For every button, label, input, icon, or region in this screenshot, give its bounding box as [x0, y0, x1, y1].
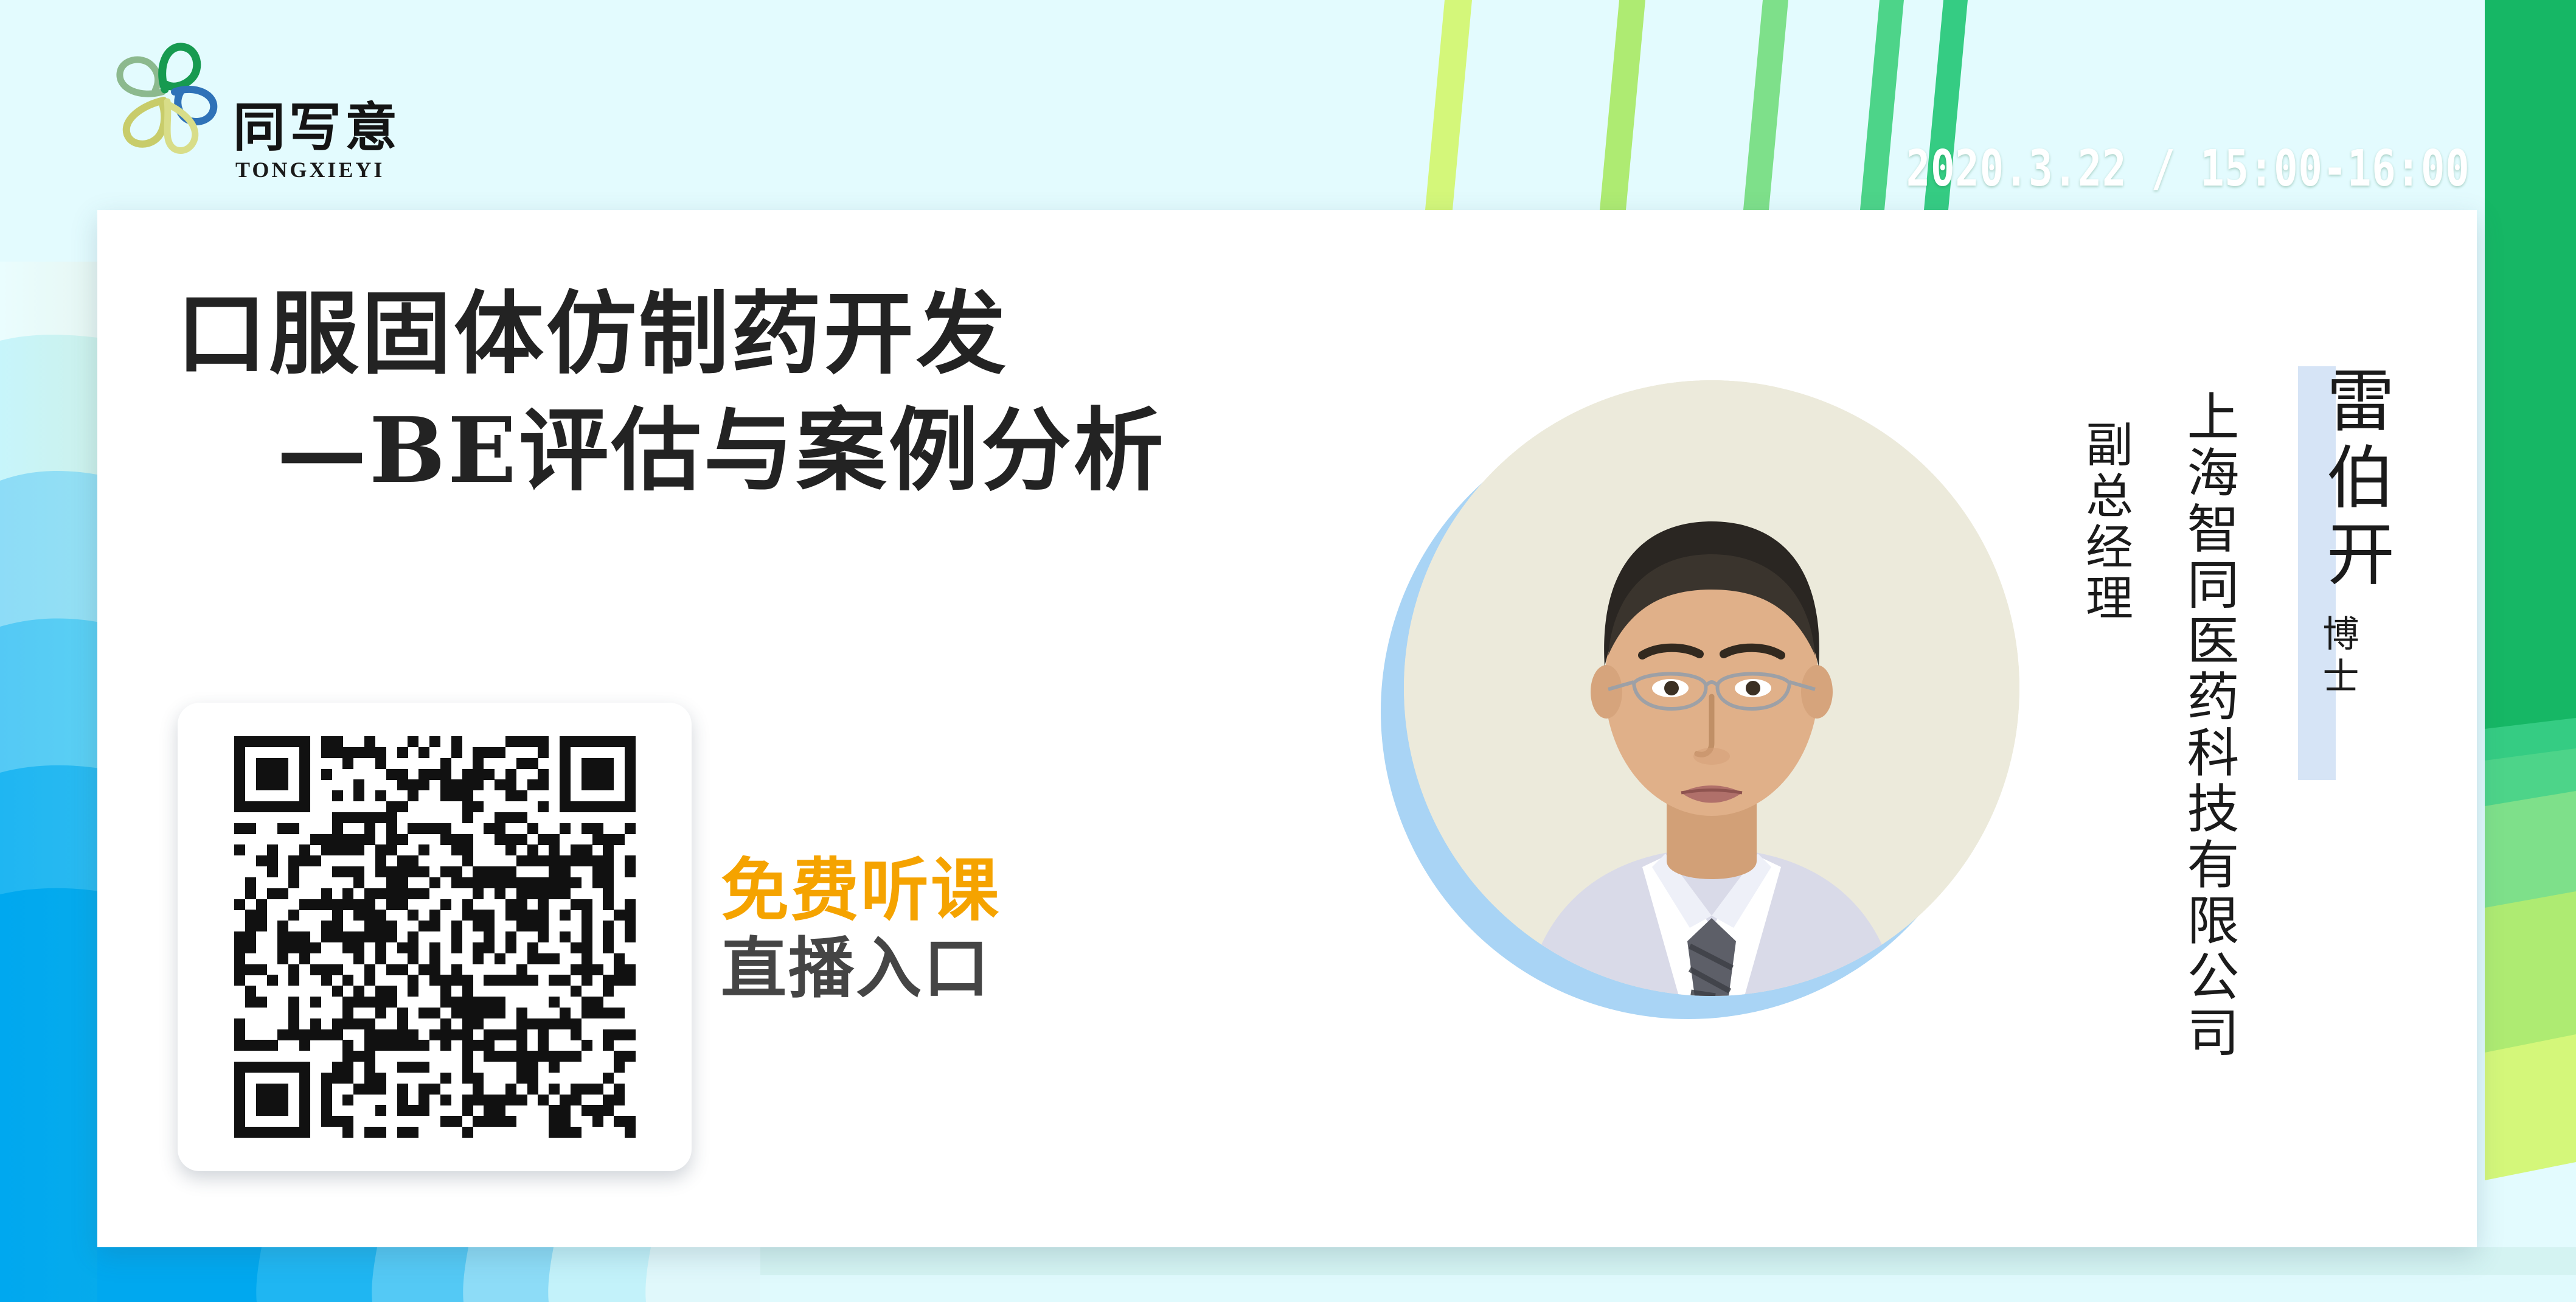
portrait-photo — [1404, 380, 2019, 996]
speaker-portrait — [1381, 380, 2019, 1025]
cta-primary-label: 免费听课 — [721, 852, 1001, 931]
speaker-degree: 博士 — [2311, 614, 2364, 700]
brand-name-cn: 同写意 — [233, 102, 401, 154]
qr-code[interactable] — [234, 736, 636, 1138]
title-line-2: —BE评估与案例分析 — [176, 392, 1166, 509]
speaker-name: 雷伯开 — [2305, 365, 2404, 595]
brand-name-latin: TONGXIEYI — [235, 159, 384, 181]
brand-logo[interactable]: 同写意 TONGXIEYI — [106, 33, 423, 198]
clover-flower-logo-icon — [106, 33, 237, 164]
qr-code-card[interactable] — [178, 703, 692, 1171]
event-datetime: 2020.3.22 / 15:00-16:00 — [1906, 140, 2470, 198]
page-title: 口服固体仿制药开发 —BE评估与案例分析 — [176, 275, 1166, 509]
title-line-1: 口服固体仿制药开发 — [176, 275, 1166, 392]
speaker-role: 副总经理 — [2071, 420, 2139, 624]
speaker-company: 上海智同医药科技有限公司 — [2170, 389, 2246, 1061]
cta-secondary-label: 直播入口 — [721, 931, 1001, 1007]
cta-block: 免费听课 直播入口 — [721, 852, 1001, 1007]
portrait-illustration — [1404, 380, 2019, 996]
